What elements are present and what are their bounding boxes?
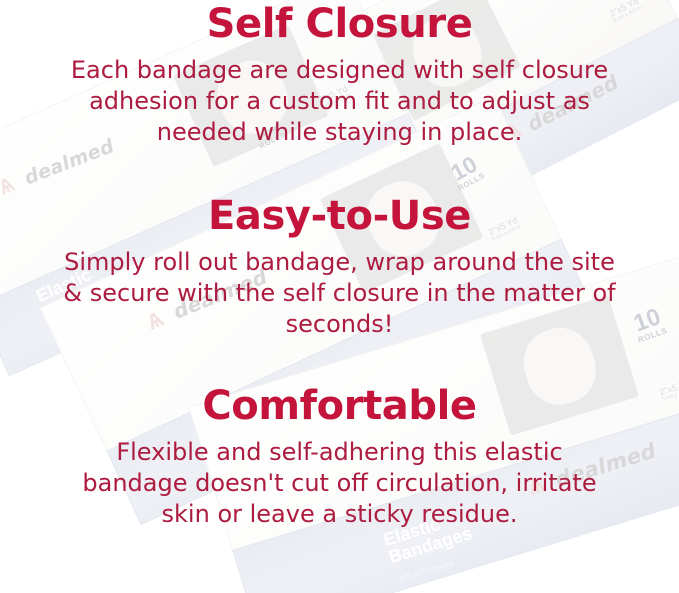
body-comfortable: Flexible and self-adhering this elastic … (0, 437, 679, 531)
body-line: Flexible and self-adhering this elastic (0, 437, 679, 468)
body-line: bandage doesn't cut off circulation, irr… (0, 468, 679, 499)
body-line: Each bandage are designed with self clos… (0, 55, 679, 86)
body-line: Simply roll out bandage, wrap around the… (0, 247, 679, 278)
headline-comfortable: Comfortable (0, 386, 679, 426)
body-line: needed while staying in place. (0, 117, 679, 148)
body-easy-to-use: Simply roll out bandage, wrap around the… (0, 247, 679, 341)
body-line: skin or leave a sticky residue. (0, 499, 679, 530)
body-line: seconds! (0, 309, 679, 340)
headline-self-closure: Self Closure (0, 4, 679, 44)
benefit-section-comfortable: Comfortable Flexible and self-adhering t… (0, 386, 679, 531)
body-self-closure: Each bandage are designed with self clos… (0, 55, 679, 149)
marketing-copy-layer: Self Closure Each bandage are designed w… (0, 0, 679, 593)
headline-easy-to-use: Easy-to-Use (0, 196, 679, 236)
body-line: adhesion for a custom fit and to adjust … (0, 86, 679, 117)
benefit-section-self-closure: Self Closure Each bandage are designed w… (0, 4, 679, 149)
benefit-section-easy-to-use: Easy-to-Use Simply roll out bandage, wra… (0, 196, 679, 341)
marketing-image-canvas: 10 ROLLS 2"x5 Yd 5 cm x 4.5 m dealmed Ѧ … (0, 0, 679, 593)
body-line: & secure with the self closure in the ma… (0, 278, 679, 309)
